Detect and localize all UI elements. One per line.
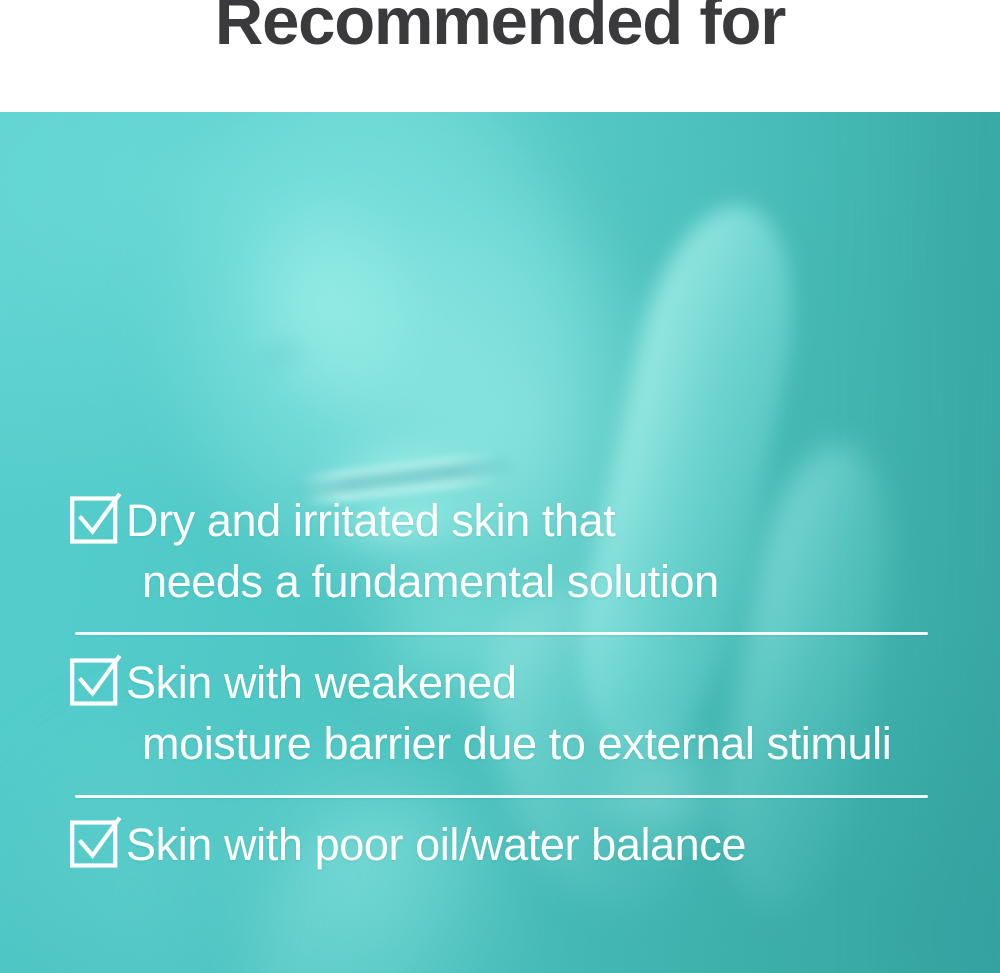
- list-item-line-1: Skin with weakened: [126, 652, 517, 713]
- list-item: Dry and irritated skin that needs a fund…: [70, 490, 970, 612]
- checked-checkbox-icon: [70, 656, 126, 708]
- list-item-line-1: Dry and irritated skin that: [126, 490, 615, 551]
- header-band: Recommended for: [0, 0, 1000, 112]
- list-item-line-2: needs a fundamental solution: [142, 551, 970, 612]
- divider: [75, 632, 928, 635]
- list-item-line-1: Skin with poor oil/water balance: [126, 814, 746, 875]
- checklist: Dry and irritated skin that needs a fund…: [0, 112, 1000, 973]
- page-title: Recommended for: [0, 0, 1000, 58]
- divider: [75, 795, 928, 798]
- recommended-for-panel: Recommended for: [0, 0, 1000, 973]
- list-item: Skin with weakened moisture barrier due …: [70, 652, 970, 774]
- list-item-line-2: moisture barrier due to external stimuli: [142, 713, 970, 774]
- hero-photo: Dry and irritated skin that needs a fund…: [0, 112, 1000, 973]
- checked-checkbox-icon: [70, 818, 126, 870]
- checked-checkbox-icon: [70, 494, 126, 546]
- list-item: Skin with poor oil/water balance: [70, 814, 970, 875]
